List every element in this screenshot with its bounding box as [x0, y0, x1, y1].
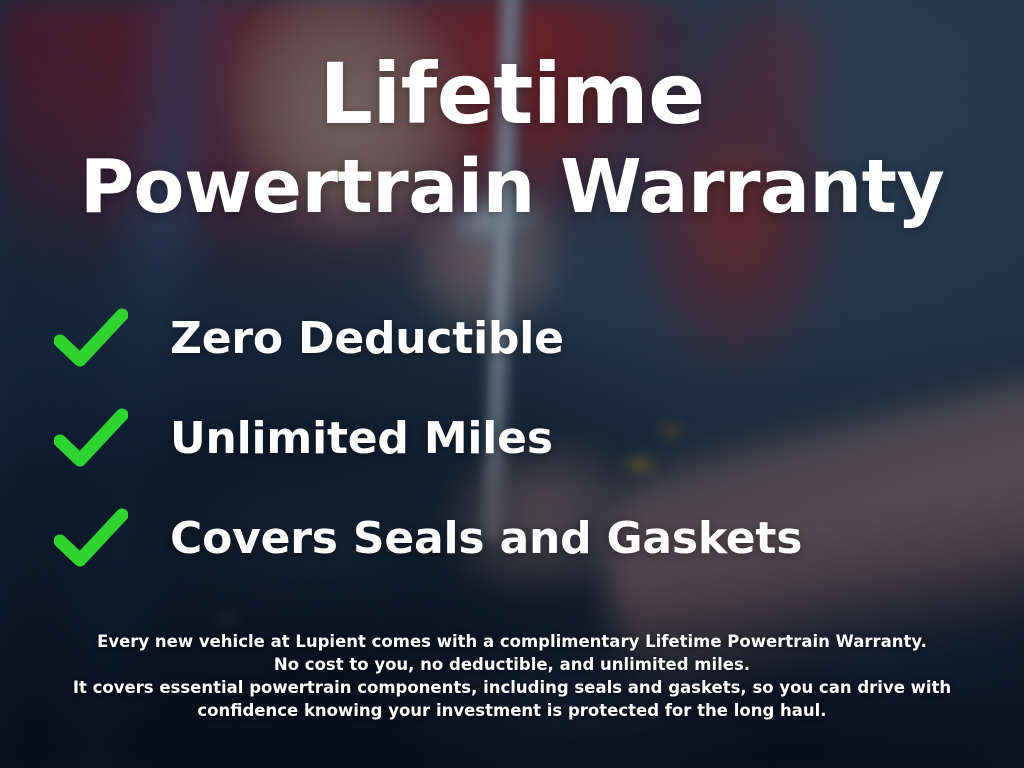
check-icon: [0, 408, 128, 468]
benefit-item-zero-deductible: Zero Deductible: [0, 288, 1024, 388]
benefit-label: Zero Deductible: [170, 313, 564, 364]
check-icon: [0, 508, 128, 568]
benefits-list: Zero Deductible Unlimited Miles Covers S…: [0, 288, 1024, 588]
fineprint-block: Every new vehicle at Lupient comes with …: [0, 630, 1024, 722]
warranty-promo-banner: Lifetime Powertrain Warranty Zero Deduct…: [0, 0, 1024, 768]
fineprint-line-2: No cost to you, no deductible, and unlim…: [0, 653, 1024, 676]
benefit-item-unlimited-miles: Unlimited Miles: [0, 388, 1024, 488]
banner-content: Lifetime Powertrain Warranty Zero Deduct…: [0, 0, 1024, 768]
benefit-label: Covers Seals and Gaskets: [170, 513, 802, 564]
fineprint-line-3: It covers essential powertrain component…: [0, 676, 1024, 699]
headline-line-2: Powertrain Warranty: [0, 150, 1024, 224]
fineprint-line-1: Every new vehicle at Lupient comes with …: [0, 630, 1024, 653]
benefit-item-covers-seals-and-gaskets: Covers Seals and Gaskets: [0, 488, 1024, 588]
fineprint-line-4: confidence knowing your investment is pr…: [0, 699, 1024, 722]
benefit-label: Unlimited Miles: [170, 413, 553, 464]
check-icon: [0, 308, 128, 368]
headline-line-1: Lifetime: [0, 52, 1024, 136]
